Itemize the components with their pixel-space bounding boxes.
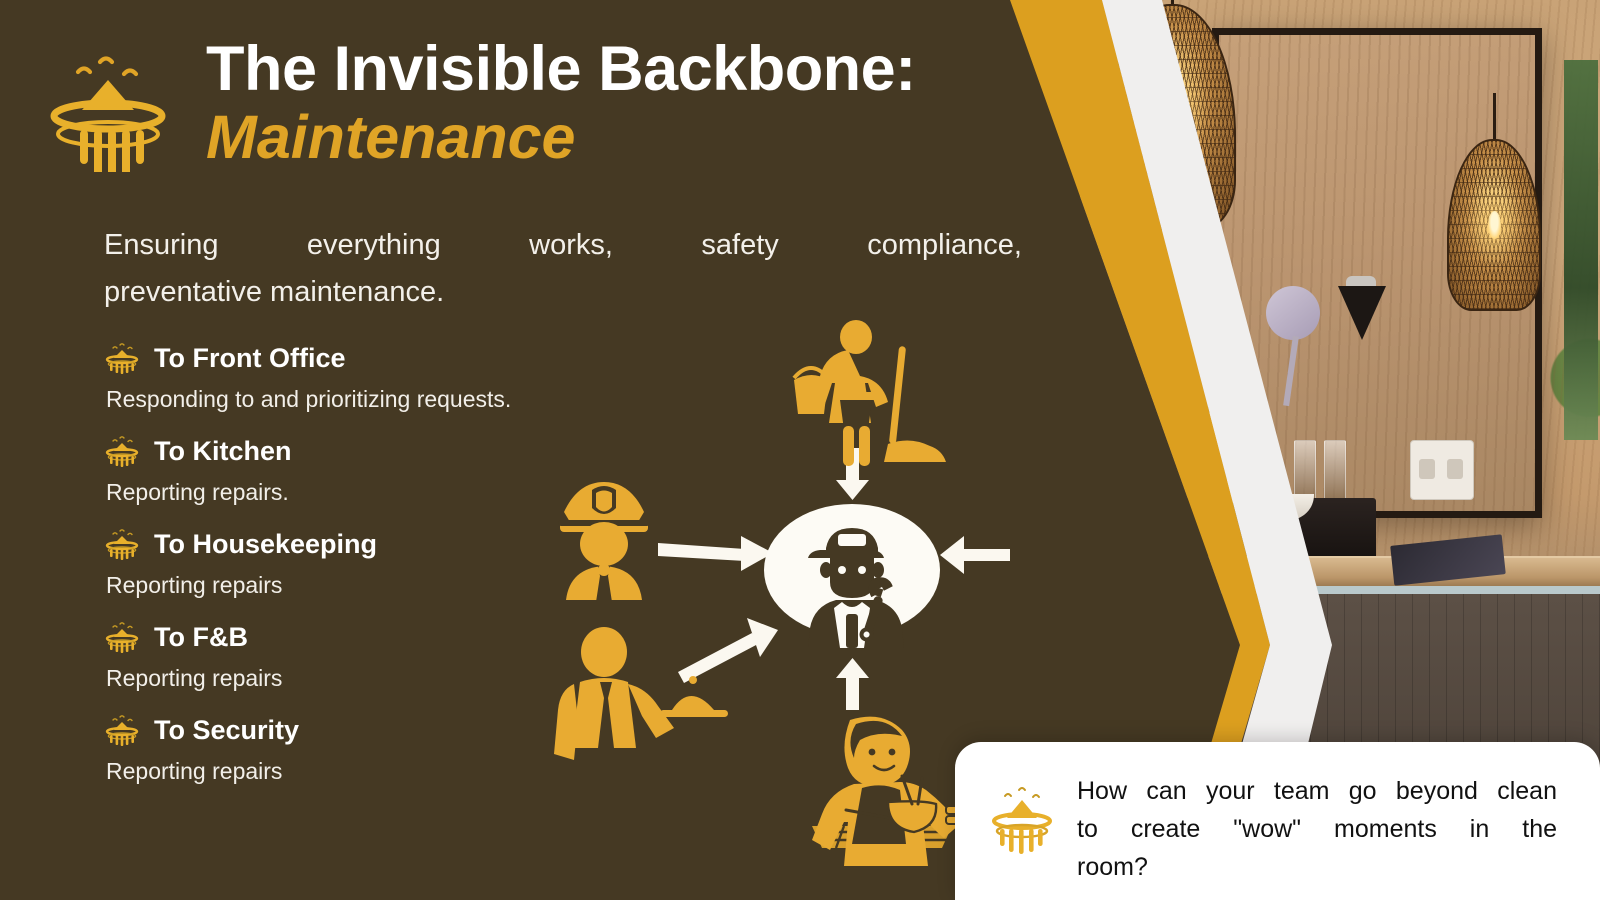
cone-lamp bbox=[1338, 286, 1386, 340]
dept-name: To Housekeeping bbox=[154, 529, 377, 560]
pavilion-logo-icon bbox=[989, 782, 1055, 854]
callout-question: How can your team go beyond clean to cre… bbox=[955, 742, 1600, 900]
arrow-up-right-from-fnb bbox=[678, 618, 778, 683]
pavilion-bullet-icon bbox=[104, 621, 140, 653]
pavilion-bullet-icon bbox=[104, 435, 140, 467]
vanity-counter bbox=[1140, 556, 1600, 586]
pendant-lamp-icon bbox=[1108, 0, 1236, 250]
callout-line-1: How can your team go beyond clean bbox=[1077, 772, 1557, 810]
arrow-right-from-security bbox=[658, 536, 773, 571]
title-line-1: The Invisible Backbone: bbox=[206, 36, 996, 102]
window bbox=[1564, 60, 1598, 440]
round-lamp bbox=[1266, 286, 1320, 340]
slide-root: The Invisible Backbone: Maintenance Ensu… bbox=[0, 0, 1600, 900]
security-guard-icon bbox=[558, 482, 650, 602]
waiter-tray-icon bbox=[554, 627, 728, 760]
page-title: The Invisible Backbone: Maintenance bbox=[206, 36, 996, 171]
subtitle-line-1: Ensuring everything works, safety compli… bbox=[104, 222, 1022, 269]
callout-line-3: room? bbox=[1077, 853, 1148, 881]
dept-name: To F&B bbox=[154, 622, 248, 653]
center-node[interactable] bbox=[764, 504, 940, 648]
arrow-left-from-front-office bbox=[940, 536, 1010, 574]
pavilion-bullet-icon bbox=[104, 714, 140, 746]
drinking-glass bbox=[1294, 440, 1316, 502]
pavilion-logo-icon bbox=[42, 44, 174, 172]
power-socket bbox=[1410, 440, 1474, 500]
callout-line-2: to create "wow" moments in the bbox=[1077, 810, 1557, 848]
pavilion-bullet-icon bbox=[104, 342, 140, 374]
pavilion-bullet-icon bbox=[104, 528, 140, 560]
dept-name: To Kitchen bbox=[154, 436, 292, 467]
callout-text: How can your team go beyond clean to cre… bbox=[1077, 772, 1557, 886]
dept-name: To Front Office bbox=[154, 343, 345, 374]
housekeeper-mop-bucket-icon bbox=[794, 320, 946, 466]
arrow-up-from-kitchen bbox=[836, 658, 869, 710]
pendant-lamp-reflection-icon bbox=[1447, 93, 1541, 289]
drinking-glass bbox=[1324, 440, 1346, 502]
maintenance-hub-diagram: RECEPTION bbox=[530, 300, 1010, 870]
title-line-2: Maintenance bbox=[206, 104, 996, 171]
dept-name: To Security bbox=[154, 715, 299, 746]
